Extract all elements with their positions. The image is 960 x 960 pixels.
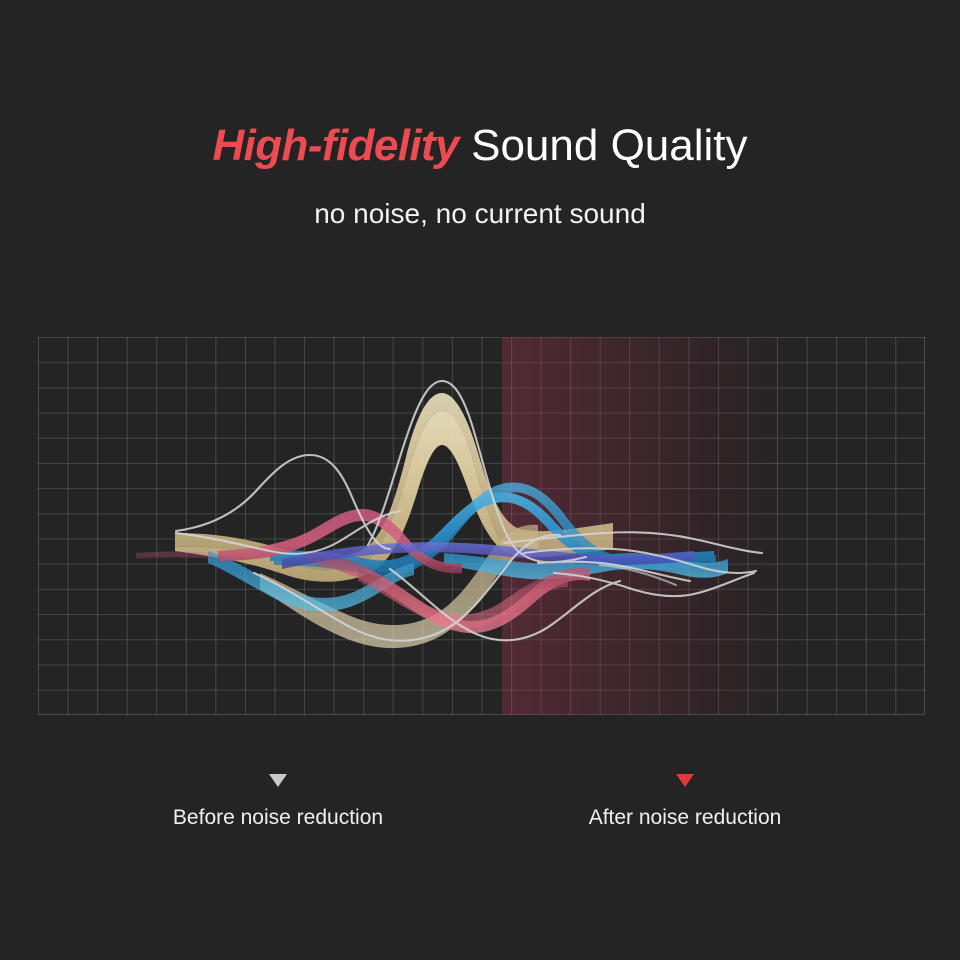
page-title: High-fidelity Sound Quality	[0, 118, 960, 174]
legend-after-noise-reduction: After noise reduction	[515, 774, 855, 831]
page-subtitle: no noise, no current sound	[0, 196, 960, 232]
page-title-accent: High-fidelity	[212, 121, 458, 170]
triangle-down-icon	[269, 774, 287, 787]
legend-before-noise-reduction: Before noise reduction	[108, 774, 448, 831]
legend-before-label: Before noise reduction	[108, 805, 448, 831]
legend-after-label: After noise reduction	[515, 805, 855, 831]
page-title-main: Sound Quality	[459, 121, 748, 170]
header: High-fidelity Sound Quality no noise, no…	[0, 118, 960, 232]
promo-graphic: High-fidelity Sound Quality no noise, no…	[0, 0, 960, 960]
waveform-graphic	[38, 337, 925, 715]
triangle-down-icon	[676, 774, 694, 787]
waveform-chart	[38, 337, 925, 715]
